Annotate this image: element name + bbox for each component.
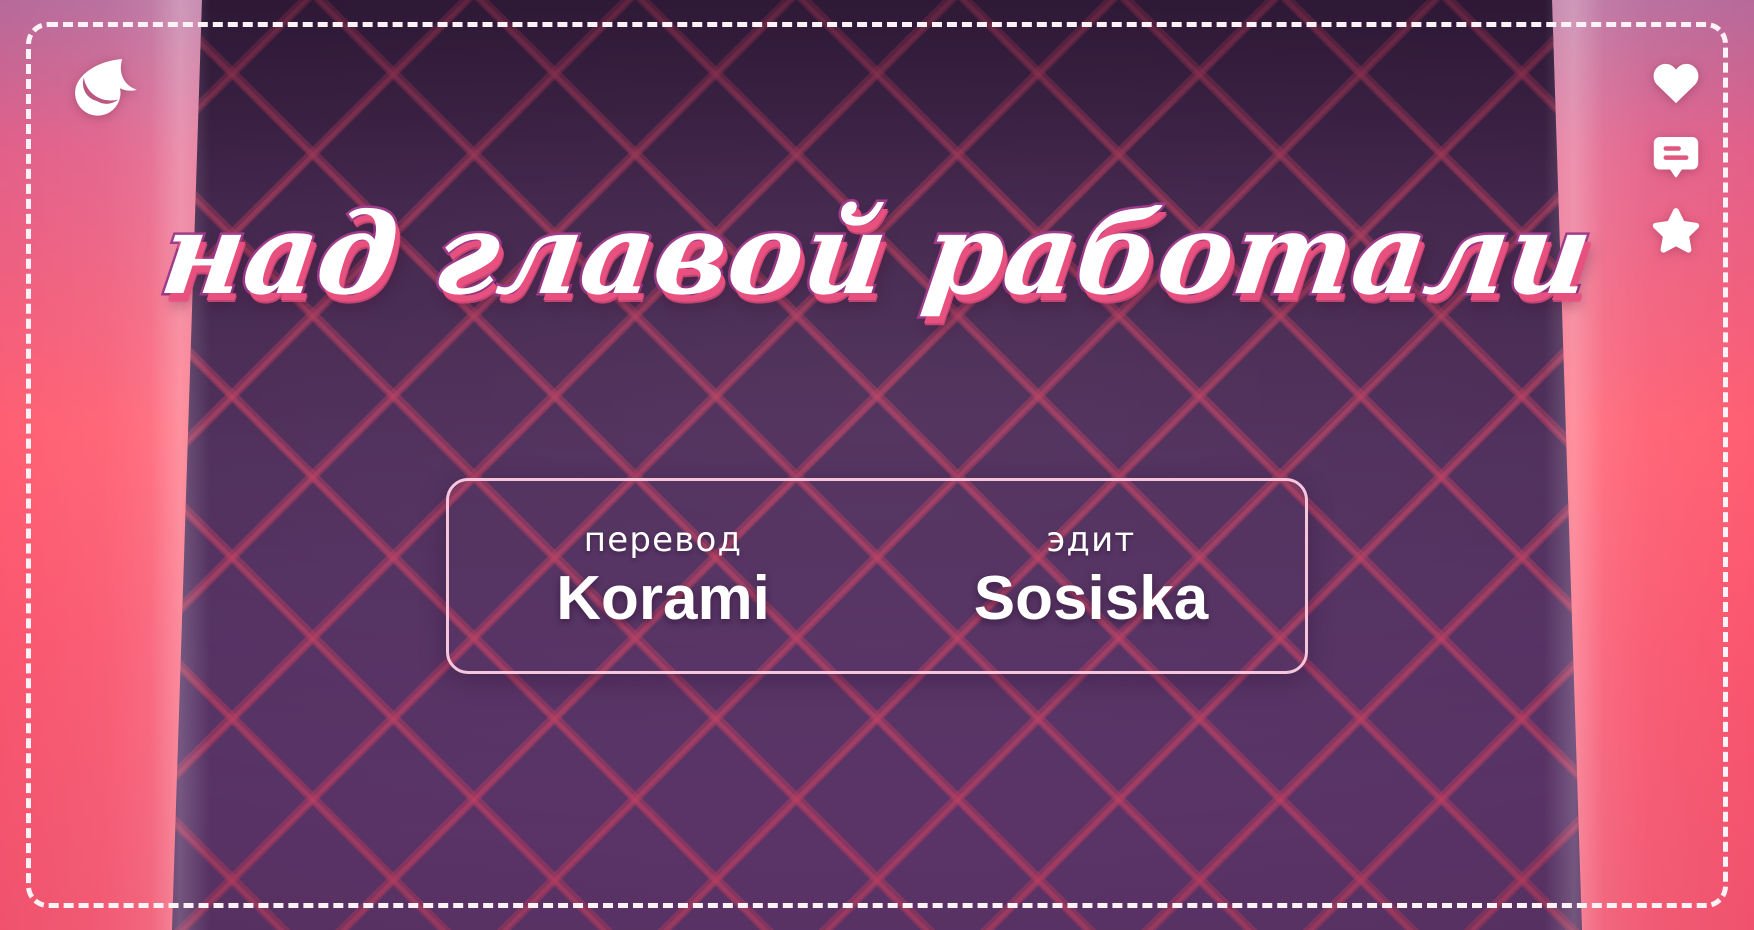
credit-entry-edit: эдит Sosiska	[937, 520, 1245, 631]
heart-icon[interactable]	[1650, 56, 1702, 108]
center-panel	[0, 0, 1754, 930]
comment-icon[interactable]	[1650, 130, 1702, 182]
lattice-lines	[0, 0, 1754, 930]
credits-card: над главой работали перевод Korami эдит …	[0, 0, 1754, 930]
crescent-moon-icon	[68, 52, 142, 126]
credit-role-label: эдит	[961, 520, 1221, 560]
credit-name-value: Korami	[533, 566, 793, 631]
panel-vignette	[0, 0, 1754, 930]
star-icon[interactable]	[1650, 204, 1702, 256]
credit-entry-translation: перевод Korami	[509, 520, 817, 631]
lattice-nodes	[0, 0, 1754, 930]
credits-box: перевод Korami эдит Sosiska	[446, 478, 1308, 674]
social-icon-rail[interactable]	[1650, 56, 1702, 256]
credit-role-label: перевод	[533, 520, 793, 560]
credit-name-value: Sosiska	[961, 566, 1221, 631]
